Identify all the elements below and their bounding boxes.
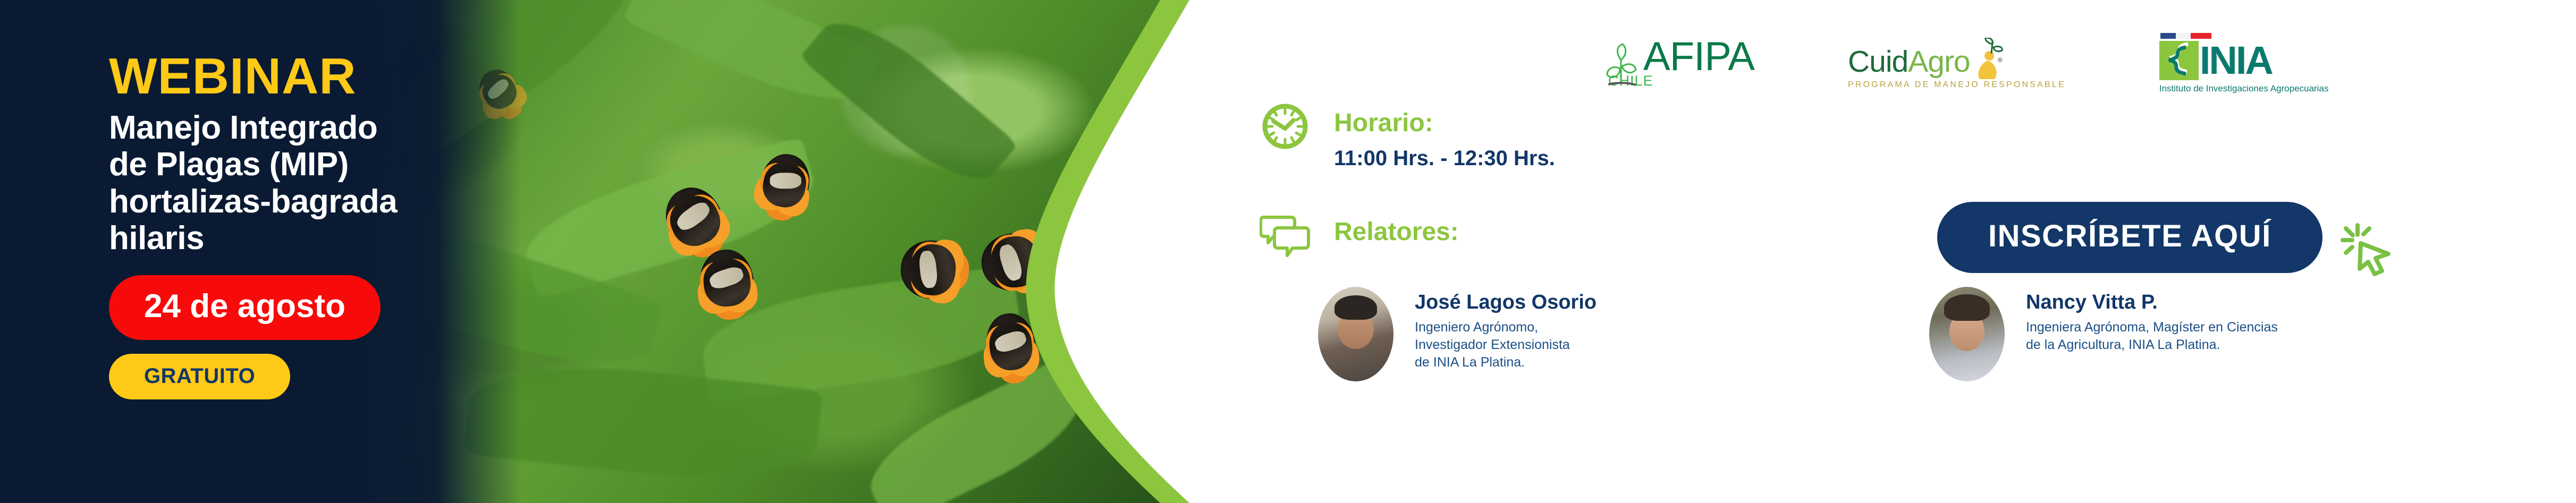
webinar-kicker: WEBINAR [109,51,577,102]
schedule-block: Horario: 11:00 Hrs. - 12:30 Hrs. [1260,101,1555,169]
cuidagro-logo: Cuid Agro ® PROGRAMA DE MANEJO RESPO [1848,38,2066,90]
inia-wordmark: INIA [2200,45,2272,76]
speaker-card: Nancy Vitta P. Ingeniera Agrónoma, Magís… [1929,287,2487,381]
speaker-name: José Lagos Osorio [1415,292,1597,312]
details-section: AFIPA CHILE Cuid Agro ® [1190,0,2576,503]
afipa-wordmark: AFIPA [1643,39,1754,75]
afipa-logo: AFIPA CHILE [1605,39,1754,88]
free-badge: GRATUITO [109,354,290,399]
afipa-sprout-icon [1605,42,1640,88]
clock-icon [1260,101,1311,152]
avatar [1318,287,1393,381]
hero-section: WEBINAR Manejo Integrado de Plagas (MIP)… [0,0,1190,503]
speakers-list: José Lagos Osorio Ingeniero Agrónomo, In… [1318,287,2487,381]
click-cursor-icon [2336,219,2396,278]
speaker-role: Ingeniero Agrónomo, Investigador Extensi… [1415,319,1597,371]
inia-emblem-icon [2159,41,2199,80]
cuidagro-tagline: PROGRAMA DE MANEJO RESPONSABLE [1848,80,2066,90]
cta-area: INSCRÍBETE AQUÍ [1937,197,2396,278]
cuidagro-wordmark-b: Agro [1908,44,1970,79]
schedule-label: Horario: [1334,110,1555,136]
speaker-card: José Lagos Osorio Ingeniero Agrónomo, In… [1318,287,1876,381]
webinar-banner: WEBINAR Manejo Integrado de Plagas (MIP)… [0,0,2576,503]
speaker-name: Nancy Vitta P. [2026,292,2278,312]
speaker-role: Ingeniera Agrónoma, Magíster en Ciencias… [2026,319,2278,354]
chile-flag-icon [2160,33,2211,39]
speech-bubbles-icon [1260,210,1311,261]
date-badge: 24 de agosto [109,275,381,340]
cuidagro-person-sprout-icon: ® [1971,38,2004,79]
cuidagro-wordmark-a: Cuid [1848,44,1908,79]
hero-copy: WEBINAR Manejo Integrado de Plagas (MIP)… [109,51,577,399]
inia-tagline: Instituto de Investigaciones Agropecuari… [2159,83,2328,94]
page-title: Manejo Integrado de Plagas (MIP) hortali… [109,109,577,257]
speakers-heading-block: Relatores: [1260,210,1459,261]
svg-text:®: ® [1998,56,2003,64]
avatar [1929,287,2005,381]
sponsor-logos: AFIPA CHILE Cuid Agro ® [1605,33,2328,94]
inia-logo: INIA Instituto de Investigaciones Agrope… [2159,33,2328,94]
speakers-label: Relatores: [1334,219,1459,245]
register-button[interactable]: INSCRÍBETE AQUÍ [1937,202,2322,273]
schedule-value: 11:00 Hrs. - 12:30 Hrs. [1334,148,1555,169]
